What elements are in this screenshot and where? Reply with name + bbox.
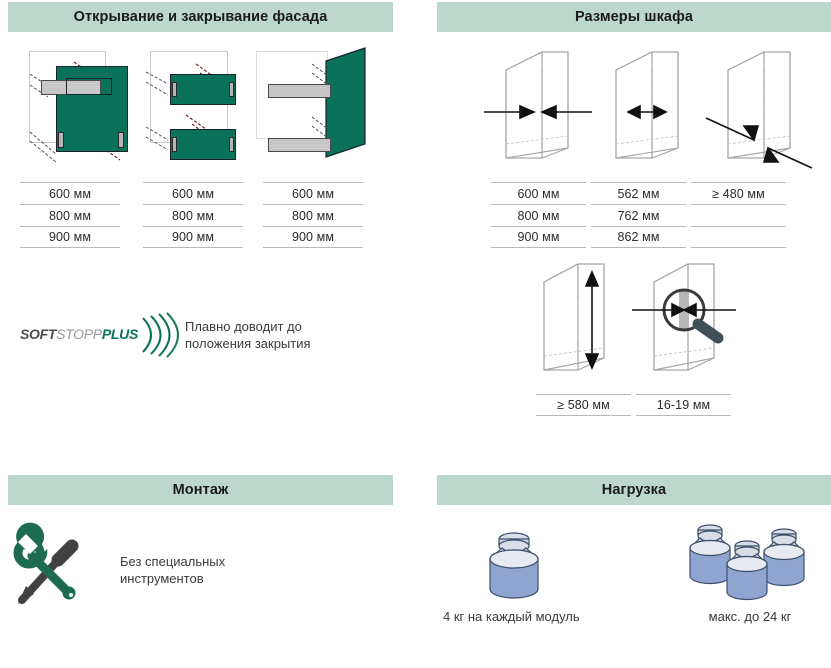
softstopp-description-line1: Плавно доводит до	[185, 318, 365, 335]
table-row: 900 мм	[143, 226, 243, 248]
section-header-load: Нагрузка	[437, 475, 831, 505]
table-facade-widths-bifold: 600 мм 800 мм 900 мм	[143, 182, 243, 248]
table-row: 600 мм	[143, 182, 243, 204]
table-row: 600 мм	[491, 182, 586, 204]
table-row: ≥ 480 мм	[691, 182, 786, 204]
diagram-cabinet-depth	[706, 44, 826, 176]
softstopp-description: Плавно доводит до положения закрытия	[185, 318, 365, 352]
wrench-icon	[16, 523, 75, 600]
table-row-empty	[691, 204, 786, 226]
diagram-panel-thickness	[632, 258, 762, 388]
lift-arm	[66, 78, 112, 95]
table-facade-widths-pocket: 600 мм 800 мм 900 мм	[263, 182, 363, 248]
facade-panel-lower	[170, 129, 236, 160]
section-title-load: Нагрузка	[602, 482, 666, 498]
section-header-dimensions: Размеры шкафа	[437, 2, 831, 32]
mounting-text-line1: Без специальных	[120, 553, 320, 570]
table-row: 800 мм	[20, 204, 120, 226]
diagram-bifold-facade	[144, 44, 259, 174]
facade-panel-upper	[170, 74, 236, 105]
diagram-pocket-facade	[262, 44, 392, 174]
softstopp-description-line2: положения закрытия	[185, 335, 365, 352]
facade-slab	[262, 44, 392, 174]
mounting-description: Без специальных инструментов	[120, 553, 320, 587]
hinge-upper-left	[172, 82, 177, 97]
table-row: 562 мм	[591, 182, 686, 204]
table-row: 762 мм	[591, 204, 686, 226]
table-row: 16-19 мм	[636, 394, 731, 416]
hinge-right	[118, 132, 124, 148]
table-cabinet-inner-width: 562 мм 762 мм 862 мм	[591, 182, 686, 248]
tools-icon	[10, 534, 86, 610]
table-row: 900 мм	[491, 226, 586, 248]
table-row: 800 мм	[143, 204, 243, 226]
hinge-left	[58, 132, 64, 148]
section-title-dimensions: Размеры шкафа	[575, 9, 693, 25]
table-row: 600 мм	[263, 182, 363, 204]
table-row: 900 мм	[263, 226, 363, 248]
section-title-opening: Открывание и закрывание фасада	[74, 9, 328, 25]
hinge-lower-left	[172, 137, 177, 152]
spec-sheet-page: Открывание и закрывание фасада Размеры ш…	[0, 0, 831, 668]
hinge-lower-right	[229, 137, 234, 152]
table-cabinet-height: ≥ 580 мм	[536, 394, 631, 416]
table-row: 862 мм	[591, 226, 686, 248]
softstopp-part-soft: SOFT	[20, 326, 56, 342]
diagram-lift-up-facade	[12, 44, 137, 174]
slide-rail-upper	[268, 84, 331, 98]
table-cabinet-outer-width: 600 мм 800 мм 900 мм	[491, 182, 586, 248]
diagram-cabinet-inner-width	[602, 44, 712, 176]
softstopp-plus-logo: SOFTSTOPPPLUS	[20, 310, 183, 358]
table-row: 800 мм	[491, 204, 586, 226]
section-header-mounting: Монтаж	[8, 475, 393, 505]
table-row: 600 мм	[20, 182, 120, 204]
mounting-text-line2: инструментов	[120, 570, 320, 587]
section-header-opening: Открывание и закрывание фасада	[8, 2, 393, 32]
diagram-cabinet-height	[530, 258, 640, 388]
sound-waves-icon	[139, 312, 183, 358]
load-single-caption: 4 кг на каждый модуль	[443, 608, 663, 625]
table-cabinet-depth: ≥ 480 мм	[691, 182, 786, 248]
slide-rail-lower	[268, 138, 331, 152]
softstopp-part-stopp: STOPP	[56, 326, 102, 342]
table-panel-thickness: 16-19 мм	[636, 394, 731, 416]
table-facade-widths-lift: 600 мм 800 мм 900 мм	[20, 182, 120, 248]
weight-single-icon	[480, 525, 560, 610]
section-title-mounting: Монтаж	[173, 482, 229, 498]
table-row: 800 мм	[263, 204, 363, 226]
table-row: ≥ 580 мм	[536, 394, 631, 416]
hinge-upper-right	[229, 82, 234, 97]
diagram-cabinet-outer-width	[480, 44, 600, 176]
table-row: 900 мм	[20, 226, 120, 248]
softstopp-part-plus: PLUS	[102, 326, 138, 342]
load-multi-caption: макс. до 24 кг	[660, 608, 831, 625]
table-row-empty	[691, 226, 786, 248]
softstopp-wordmark: SOFTSTOPPPLUS	[20, 326, 138, 342]
weights-triple-icon	[676, 518, 821, 610]
